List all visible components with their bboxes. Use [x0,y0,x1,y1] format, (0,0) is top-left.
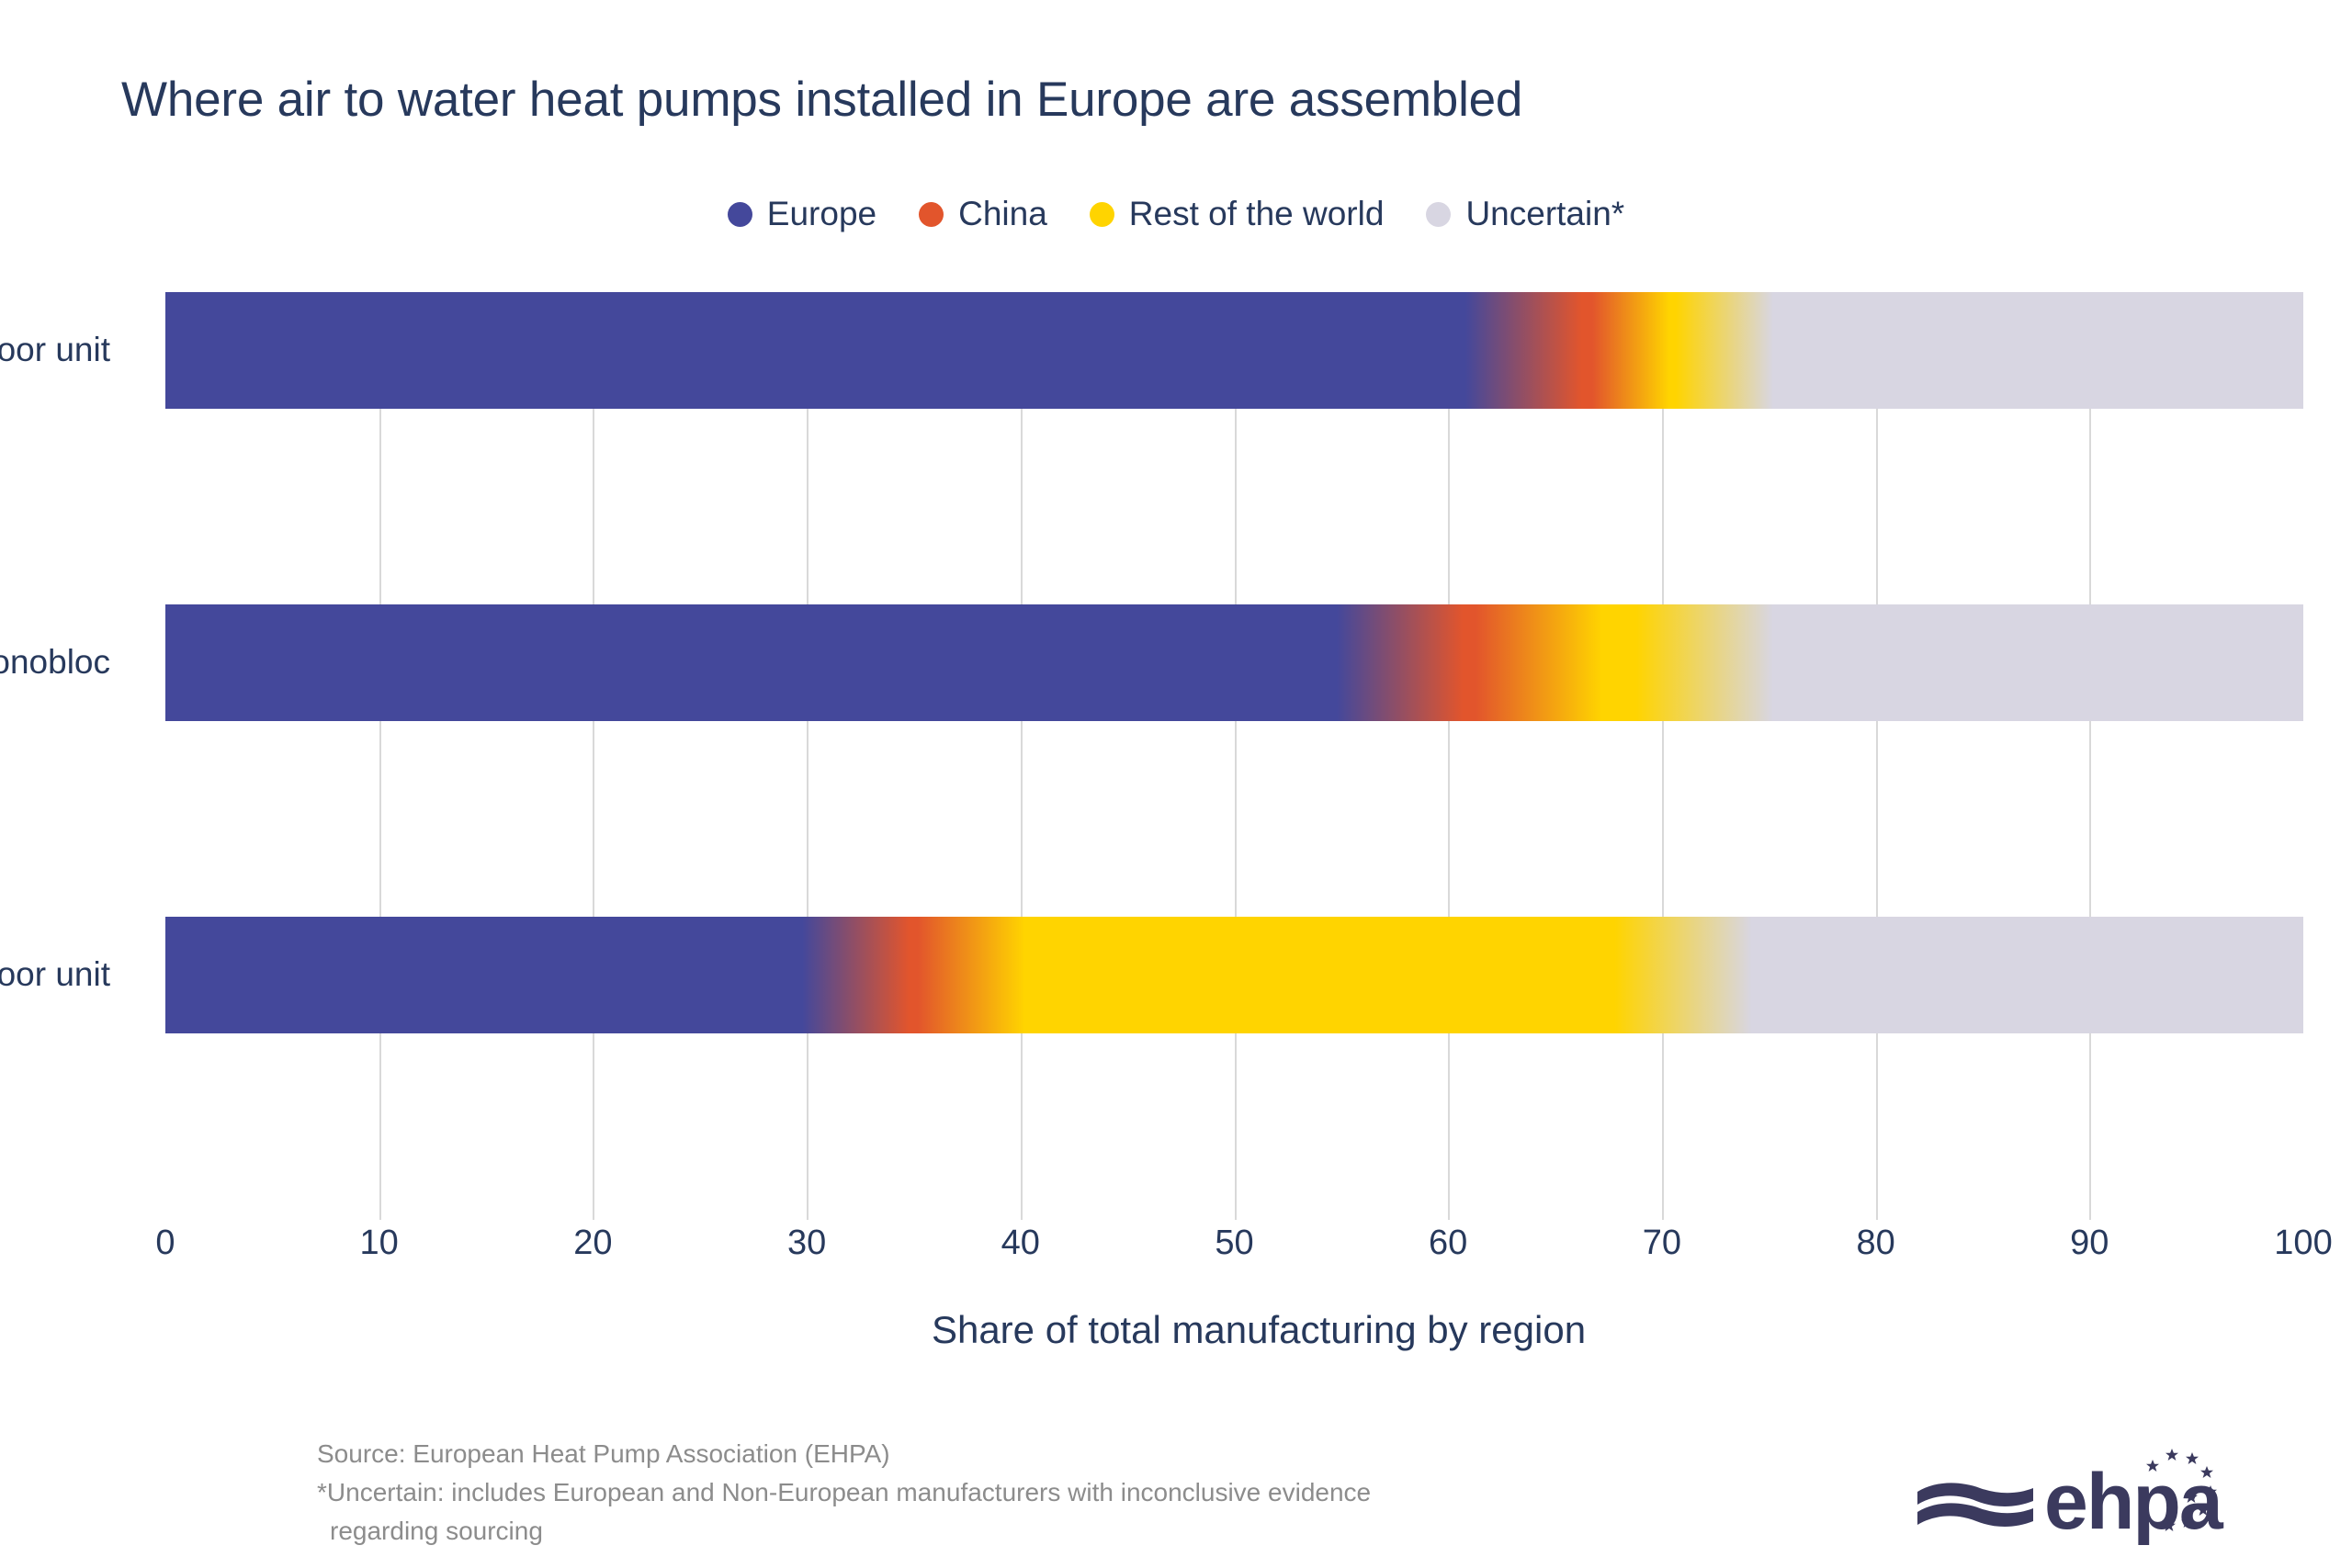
uncertain-note-line-1: *Uncertain: includes European and Non-Eu… [317,1473,1371,1512]
x-axis-tick-label: 60 [1429,1224,1467,1263]
stacked-bar-outdoor-unit[interactable] [165,917,2303,1033]
gridline [1235,292,1237,1220]
gridline [1662,292,1664,1220]
y-axis-label-monobloc: Monobloc [0,643,110,682]
svg-text:ehpa: ehpa [2044,1458,2224,1545]
chart-plot-area: Indoor unit Monobloc Outdoor unit [165,292,2303,1220]
chart-gridlines [165,292,2303,1220]
legend-item-uncertain[interactable]: Uncertain* [1426,195,1624,233]
bar-row[interactable]: Monobloc [165,604,2303,721]
legend-item-label: Uncertain* [1465,195,1624,233]
gridline [593,292,594,1220]
legend-item-rest-of-the-world[interactable]: Rest of the world [1090,195,1385,233]
x-axis-tick-label: 30 [787,1224,826,1263]
gridline [807,292,808,1220]
x-axis-tick-label: 100 [2274,1224,2332,1263]
legend-item-label: Europe [767,195,876,233]
ehpa-logo: ehpa [1916,1444,2228,1545]
legend-item-label: China [958,195,1047,233]
ehpa-logo-icon: ehpa [1916,1444,2228,1545]
x-axis-tick-label: 40 [1001,1224,1040,1263]
bar-row[interactable]: Outdoor unit [165,917,2303,1033]
stacked-bar-monobloc[interactable] [165,604,2303,721]
gridline [1021,292,1023,1220]
x-axis-tick-label: 10 [360,1224,399,1263]
legend-item-europe[interactable]: Europe [728,195,876,233]
bar-row[interactable]: Indoor unit [165,292,2303,409]
x-axis-title: Share of total manufacturing by region [0,1308,2352,1352]
x-axis-tick-label: 90 [2070,1224,2109,1263]
x-axis: 0102030405060708090100 [165,1224,2303,1288]
source-text: Source: European Heat Pump Association (… [317,1435,1371,1473]
y-axis-label-outdoor-unit: Outdoor unit [0,955,110,994]
x-axis-tick-label: 70 [1643,1224,1681,1263]
legend-item-label: Rest of the world [1129,195,1385,233]
gridline [1876,292,1878,1220]
gridline [1448,292,1450,1220]
chart-footnote: Source: European Heat Pump Association (… [317,1435,1371,1551]
chart-legend: Europe China Rest of the world Uncertain… [0,195,2352,233]
y-axis-label-indoor-unit: Indoor unit [0,331,110,369]
legend-item-china[interactable]: China [919,195,1047,233]
dot-icon [1426,202,1451,227]
dot-icon [919,202,944,227]
dot-icon [728,202,752,227]
x-axis-tick-label: 80 [1856,1224,1894,1263]
dot-icon [1090,202,1114,227]
page-title: Where air to water heat pumps installed … [121,72,1522,128]
uncertain-note-line-2: regarding sourcing [317,1512,1371,1551]
gridline [2089,292,2091,1220]
x-axis-tick-label: 50 [1215,1224,1253,1263]
x-axis-tick-label: 20 [573,1224,612,1263]
x-axis-tick-label: 0 [155,1224,175,1263]
stacked-bar-indoor-unit[interactable] [165,292,2303,409]
gridline [379,292,381,1220]
